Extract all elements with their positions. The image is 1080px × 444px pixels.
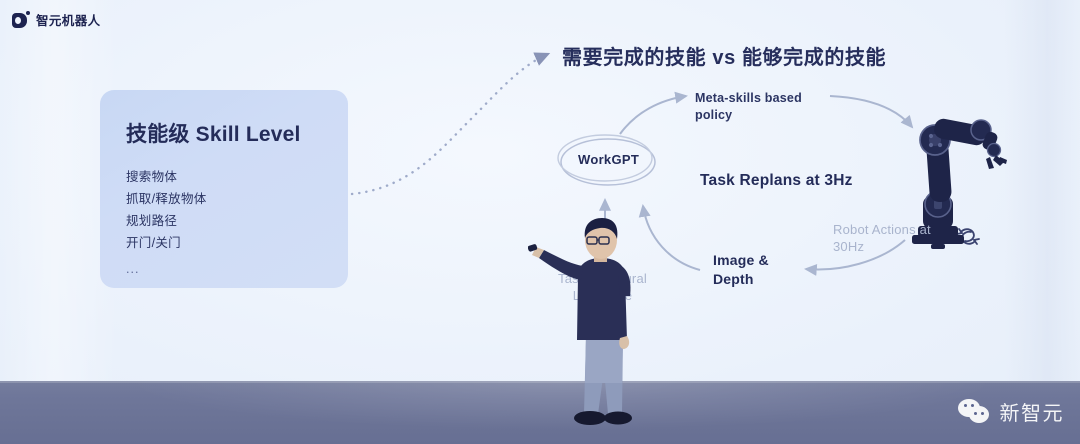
image-depth-label: Image & Depth <box>713 251 769 289</box>
task-replans-label: Task Replans at 3Hz <box>700 172 853 190</box>
skill-level-title: 技能级 Skill Level <box>126 118 322 148</box>
brand-logo: 智元机器人 <box>12 10 101 29</box>
skill-item: 开门/关门 <box>126 232 322 254</box>
skill-item: 规划路径 <box>126 210 322 232</box>
skill-level-panel: 技能级 Skill Level 搜索物体 抓取/释放物体 规划路径 开门/关门 … <box>100 90 348 288</box>
skill-item-ellipsis: ... <box>126 254 322 280</box>
skill-item: 搜索物体 <box>126 166 322 188</box>
meta-skills-label: Meta-skills based policy <box>695 90 802 124</box>
agibot-logo-icon <box>12 11 29 28</box>
watermark-text: 新智元 <box>1000 397 1065 426</box>
presenter-figure <box>528 218 673 444</box>
wechat-icon <box>958 399 992 425</box>
wechat-watermark: 新智元 <box>958 397 1065 426</box>
skill-item: 抓取/释放物体 <box>126 188 322 210</box>
slide-stage: 智元机器人 技能级 Skill Level 搜索物体 抓取/释放物体 规划路径 … <box>0 0 1080 444</box>
brand-name: 智元机器人 <box>36 10 101 29</box>
slide-headline: 需要完成的技能 vs 能够完成的技能 <box>562 41 886 70</box>
workgpt-label: WorkGPT <box>578 152 639 167</box>
robot-actions-label: Robot Actions at 30Hz <box>833 221 931 255</box>
